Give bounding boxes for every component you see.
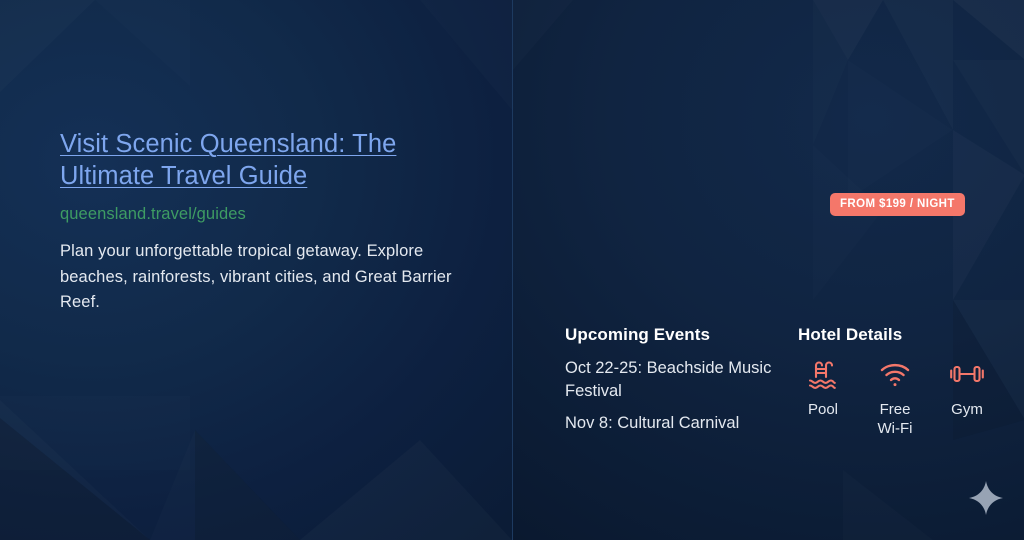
amenity-label: Free Wi-Fi	[870, 400, 920, 438]
facet-shapes-right	[513, 0, 1024, 540]
left-result-panel: Visit Scenic Queensland: The Ultimate Tr…	[0, 0, 512, 540]
hotel-details-heading: Hotel Details	[798, 325, 998, 345]
comparison-canvas: Visit Scenic Queensland: The Ultimate Tr…	[0, 0, 1024, 540]
upcoming-events-heading: Upcoming Events	[565, 325, 790, 345]
pool-icon	[798, 357, 848, 391]
event-item[interactable]: Oct 22-25: Beachside Music Festival	[565, 357, 790, 403]
amenity-gym[interactable]: Gym	[942, 357, 992, 419]
sparkle-icon	[967, 479, 1005, 517]
hotel-details-section: Hotel Details Pool	[798, 325, 998, 438]
left-search-result: Visit Scenic Queensland: The Ultimate Tr…	[60, 128, 470, 316]
amenity-pool[interactable]: Pool	[798, 357, 848, 419]
left-result-title-link[interactable]: Visit Scenic Queensland: The Ultimate Tr…	[60, 128, 470, 192]
right-result-panel: Visit Scenic Queensland: The Ultimate Tr…	[512, 0, 1024, 540]
price-badge[interactable]: FROM $199 / NIGHT	[830, 193, 965, 216]
amenity-label: Pool	[798, 400, 848, 419]
left-result-url[interactable]: queensland.travel/guides	[60, 203, 470, 225]
upcoming-events-section: Upcoming Events Oct 22-25: Beachside Mus…	[565, 325, 790, 444]
amenity-list: Pool Free Wi-Fi	[798, 357, 998, 438]
wifi-icon	[870, 357, 920, 391]
event-item[interactable]: Nov 8: Cultural Carnival	[565, 412, 790, 435]
amenity-label: Gym	[942, 400, 992, 419]
background-facets-right	[513, 0, 1024, 540]
amenity-free-wifi[interactable]: Free Wi-Fi	[870, 357, 920, 438]
dumbbell-icon	[942, 357, 992, 391]
left-result-snippet: Plan your unforgettable tropical getaway…	[60, 239, 470, 316]
